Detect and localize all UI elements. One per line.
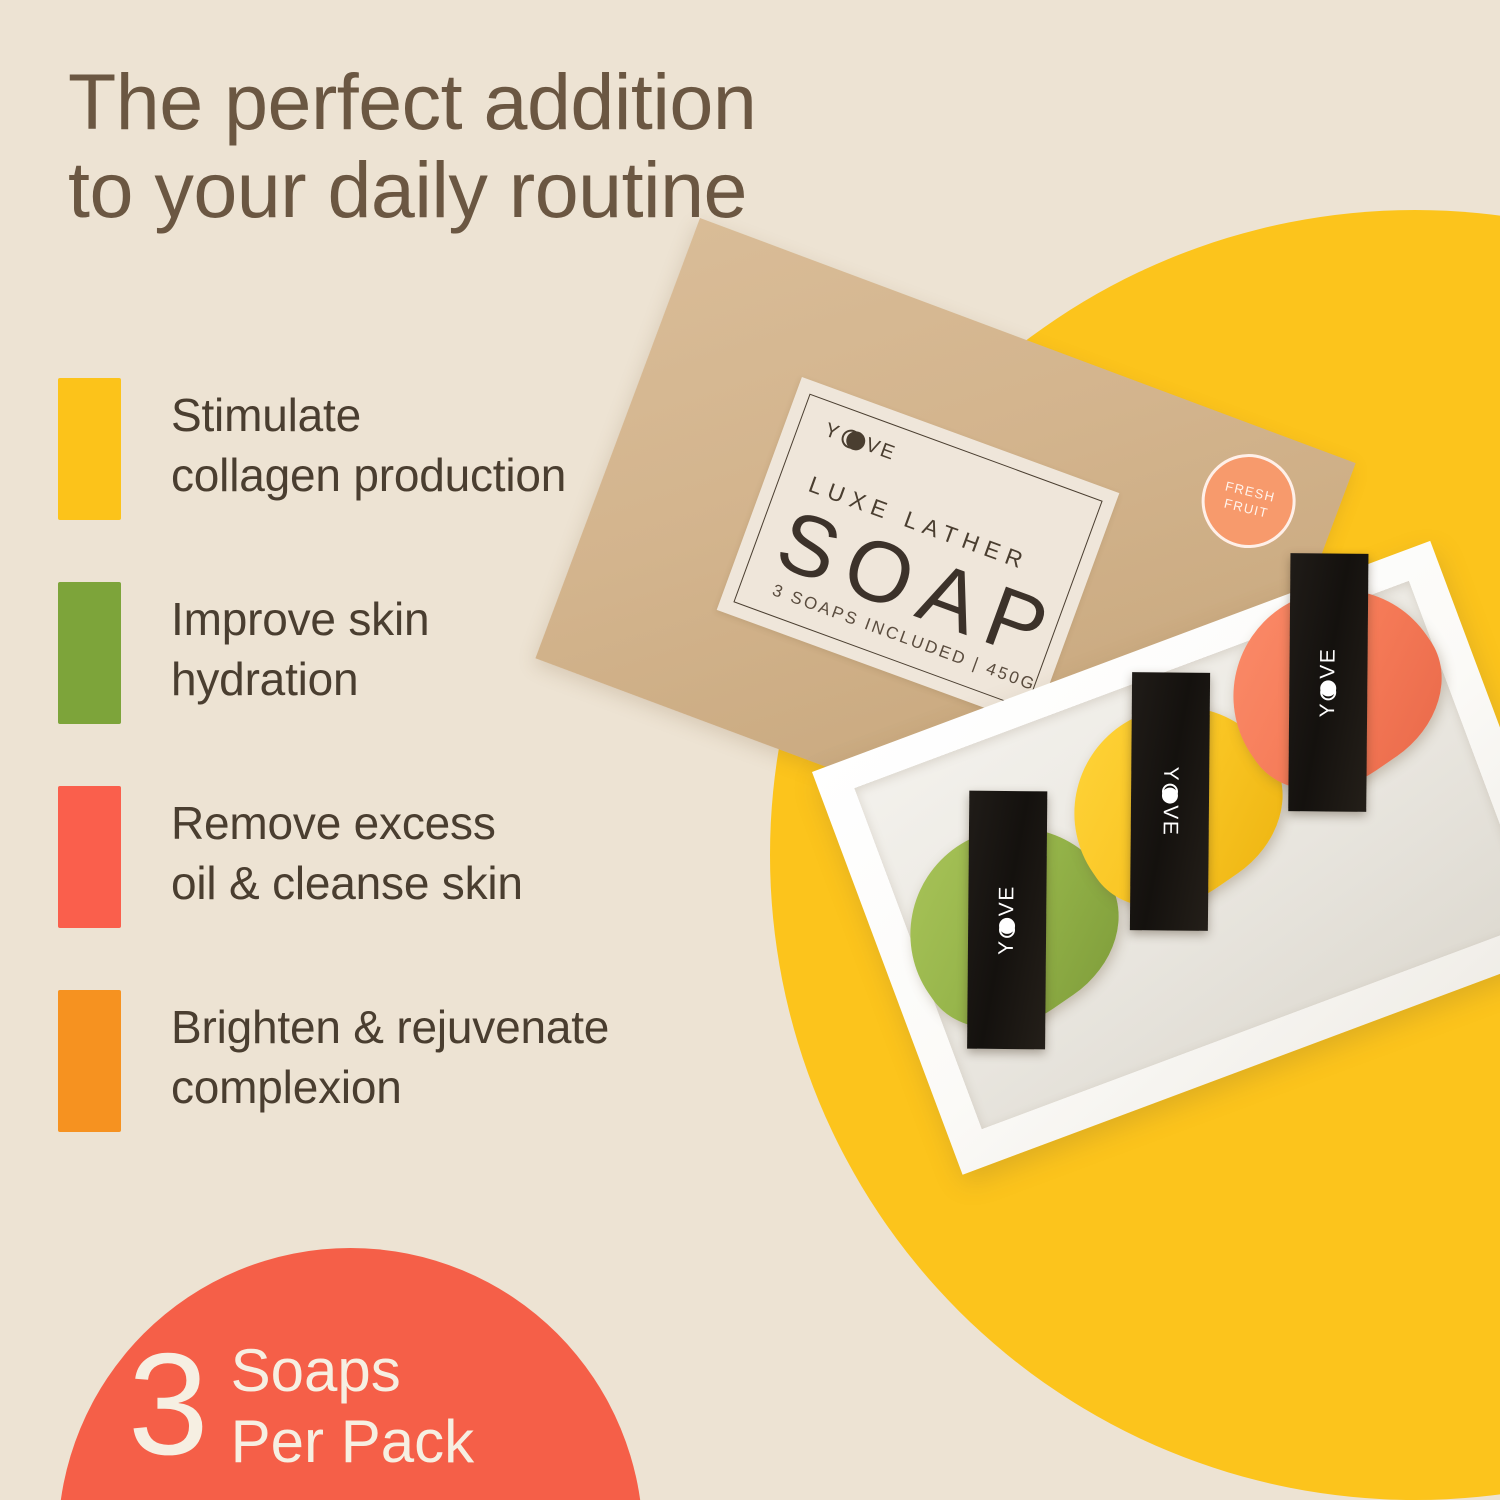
soap-band-yellow: Y VE (1130, 672, 1210, 931)
band-circles-icon-yellow (1162, 783, 1178, 804)
pack-count-words: Soaps Per Pack (231, 1332, 474, 1478)
fresh-fruit-badge: FRESH FRUIT (1188, 441, 1309, 562)
band-brand-green: Y VE (995, 885, 1020, 955)
benefit-label-1: Stimulate collagen production (171, 378, 566, 506)
soap-band-orange: Y VE (1288, 553, 1368, 812)
band-suffix-orange: VE (1316, 647, 1340, 678)
red-swatch (58, 786, 121, 928)
band-brand-orange: Y VE (1316, 647, 1341, 717)
band-brand-yellow: Y VE (1158, 766, 1183, 836)
band-prefix-orange: Y (1316, 702, 1340, 718)
green-swatch (58, 582, 121, 724)
benefit-label-4: Brighten & rejuvenate complexion (171, 990, 609, 1118)
band-prefix-green: Y (995, 939, 1019, 955)
band-prefix-yellow: Y (1158, 766, 1182, 782)
band-suffix-green: VE (995, 885, 1019, 916)
yellow-swatch (58, 378, 121, 520)
band-suffix-yellow: VE (1158, 805, 1182, 836)
product-label: Y VE LUXE LATHER SOAP 3 SOAPS INCLUDED |… (717, 377, 1120, 726)
soap-band-green: Y VE (967, 791, 1047, 1050)
band-circles-icon-green (999, 917, 1015, 938)
page-headline: The perfect addition to your daily routi… (68, 58, 1048, 235)
band-circles-icon-orange (1320, 680, 1336, 701)
pack-count-badge-content: 3 Soaps Per Pack (128, 1332, 474, 1478)
product-feature-graphic: The perfect addition to your daily routi… (0, 0, 1500, 1500)
benefit-label-3: Remove excess oil & cleanse skin (171, 786, 523, 914)
benefit-label-2: Improve skin hydration (171, 582, 429, 710)
fresh-fruit-badge-text: FRESH FRUIT (1220, 479, 1278, 524)
benefit-item-4: Brighten & rejuvenate complexion (58, 990, 818, 1132)
benefit-item-3: Remove excess oil & cleanse skin (58, 786, 818, 928)
orange-swatch (58, 990, 121, 1132)
pack-count-number: 3 (128, 1338, 209, 1471)
